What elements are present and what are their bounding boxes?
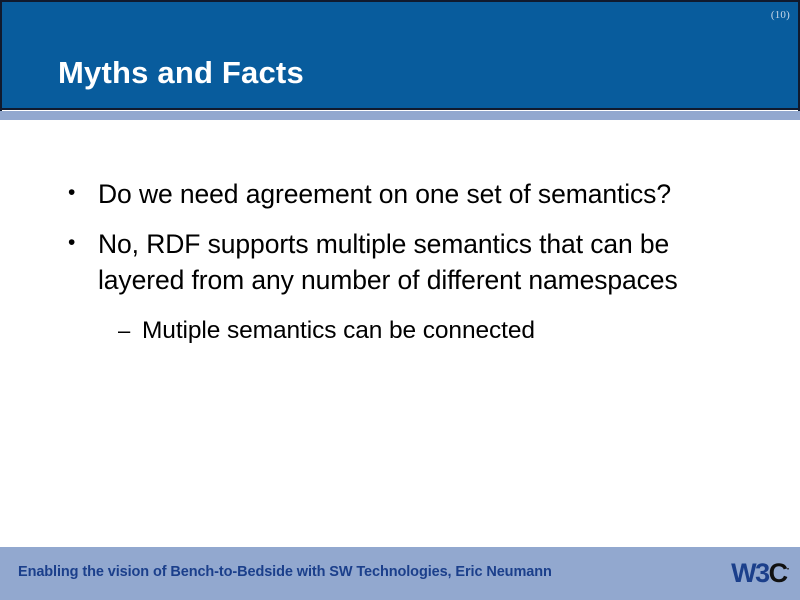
list-item-text: Do we need agreement on one set of seman… [98,176,752,212]
w3c-logo-w3: W3 [731,558,769,588]
footer-tagline: Enabling the vision of Bench-to-Bedside … [18,564,552,580]
list-item: • Do we need agreement on one set of sem… [0,176,800,212]
page-number: (10) [771,9,790,21]
w3c-logo-c: C [769,558,787,588]
sub-list-item: – Mutiple semantics can be connected [0,314,800,348]
slide-footer: Enabling the vision of Bench-to-Bedside … [0,547,800,600]
page-title: Myths and Facts [58,55,304,91]
slide-header: (10) Myths and Facts [0,0,800,110]
w3c-logo-tm-icon: · [787,564,790,575]
bullet-dot-icon: • [68,226,98,253]
bullet-dot-icon: • [68,176,98,203]
presentation-slide: (10) Myths and Facts • Do we need agreem… [0,0,800,600]
list-item-text: No, RDF supports multiple semantics that… [98,226,752,298]
slide-body: • Do we need agreement on one set of sem… [0,120,800,547]
bullet-dash-icon: – [118,314,142,348]
header-accent-strip [0,111,800,120]
list-item: • No, RDF supports multiple semantics th… [0,226,800,298]
w3c-logo: W3C· [731,560,790,587]
header-left-border [0,2,2,112]
sub-list-item-text: Mutiple semantics can be connected [142,314,752,348]
